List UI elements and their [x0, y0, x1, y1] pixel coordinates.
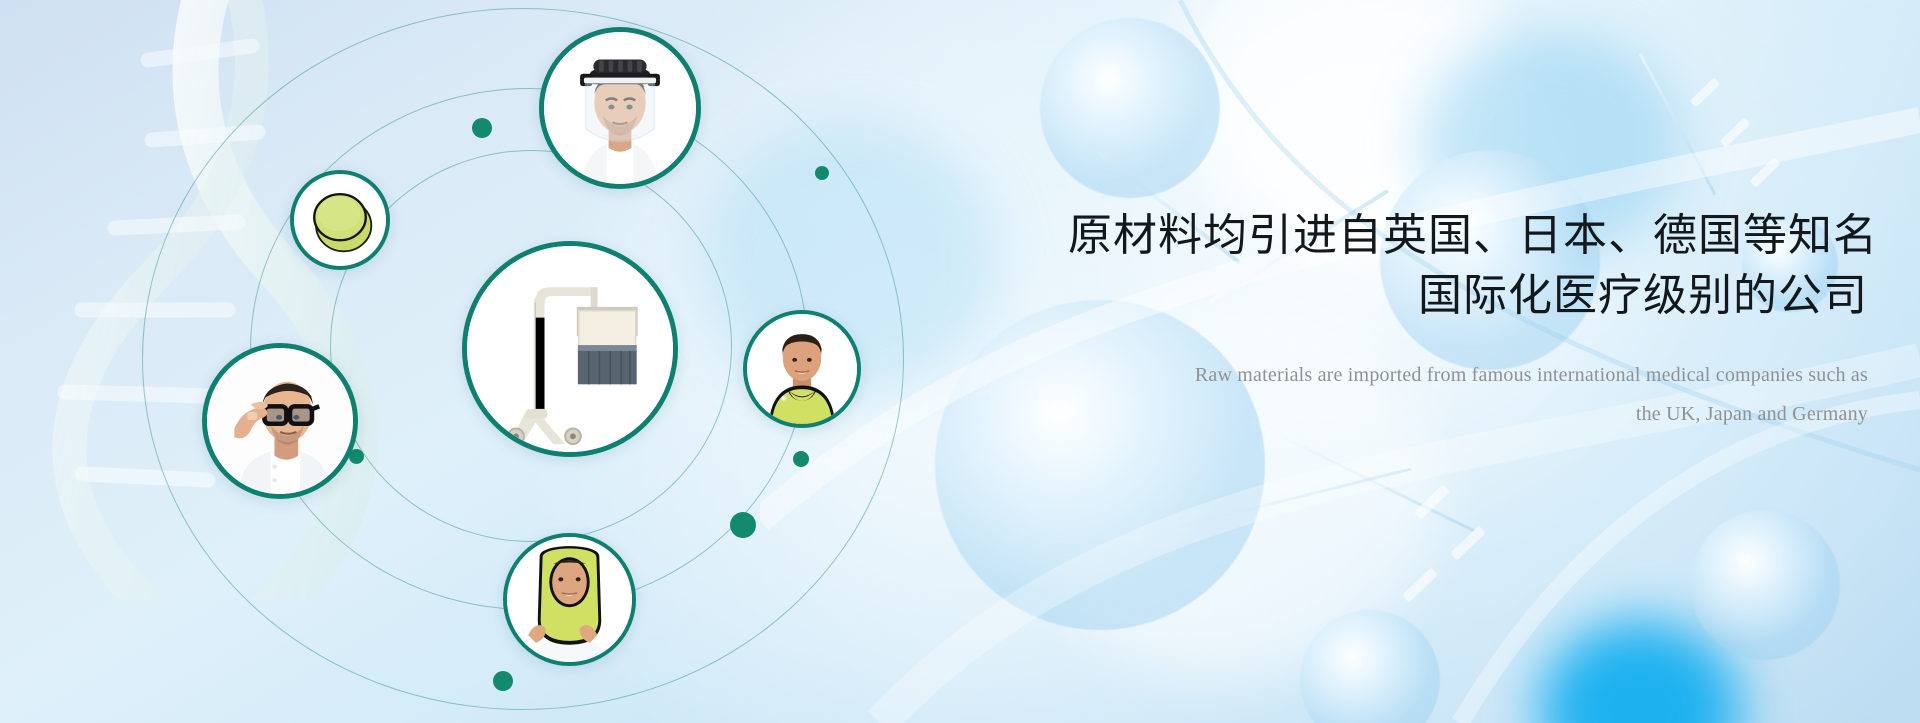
subheading-block: Raw materials are imported from famous i…	[1068, 356, 1868, 434]
bubble-thyroid-collar-inner	[747, 314, 857, 424]
molecule-link-5	[1120, 467, 1412, 542]
dash-5	[1450, 526, 1486, 561]
dash-6	[1402, 568, 1438, 603]
bubble-face-shield-inner	[544, 32, 696, 184]
dash-4	[1414, 485, 1450, 520]
bubble-lead-cap[interactable]	[290, 170, 390, 270]
molecule-sphere-bottom	[1300, 610, 1440, 723]
molecule-link-3	[1249, 420, 1475, 532]
face-shield-icon	[544, 32, 696, 184]
subheading-line-1: Raw materials are imported from famous i…	[1068, 356, 1868, 395]
bubble-mobile-shield[interactable]	[462, 241, 678, 457]
lead-hood-icon	[507, 537, 632, 662]
lead-glasses-icon	[207, 348, 353, 494]
bubble-lead-hood[interactable]	[503, 533, 636, 666]
copy-block: 原材料均引进自英国、日本、德国等知名 国际化医疗级别的公司 Raw materi…	[1068, 206, 1868, 434]
bubble-lead-glasses-inner	[207, 348, 353, 494]
molecule-sphere-lower-right	[1690, 510, 1840, 660]
thyroid-collar-icon	[747, 314, 857, 424]
orbit-dot-6	[493, 671, 513, 691]
dash-1	[1690, 77, 1721, 107]
blur-blob-1	[1180, 0, 1510, 240]
heading-line-2: 国际化医疗级别的公司	[1068, 266, 1868, 326]
hero-banner: 原材料均引进自英国、日本、德国等知名 国际化医疗级别的公司 Raw materi…	[0, 0, 1920, 723]
lead-cap-icon	[294, 174, 386, 266]
bubble-face-shield[interactable]	[539, 27, 701, 189]
blur-blob-3	[1540, 620, 1740, 723]
subheading-line-2: the UK, Japan and Germany	[1068, 395, 1868, 434]
mobile-shield-icon	[467, 246, 673, 452]
dash-2	[1720, 117, 1751, 147]
bubble-lead-cap-inner	[294, 174, 386, 266]
dash-3	[1750, 157, 1781, 187]
bubble-thyroid-collar[interactable]	[743, 310, 861, 428]
molecule-link-4	[1639, 53, 1717, 196]
bubble-lead-glasses[interactable]	[202, 343, 358, 499]
orbit-dot-2	[815, 166, 829, 180]
heading-line-1: 原材料均引进自英国、日本、德国等知名	[1068, 206, 1868, 266]
bubble-mobile-shield-inner	[467, 246, 673, 452]
orbit-dot-4	[793, 451, 809, 467]
molecule-sphere-top	[1040, 18, 1220, 198]
orbit-dot-1	[472, 118, 492, 138]
orbit-dot-5	[730, 512, 756, 538]
bubble-lead-hood-inner	[507, 537, 632, 662]
